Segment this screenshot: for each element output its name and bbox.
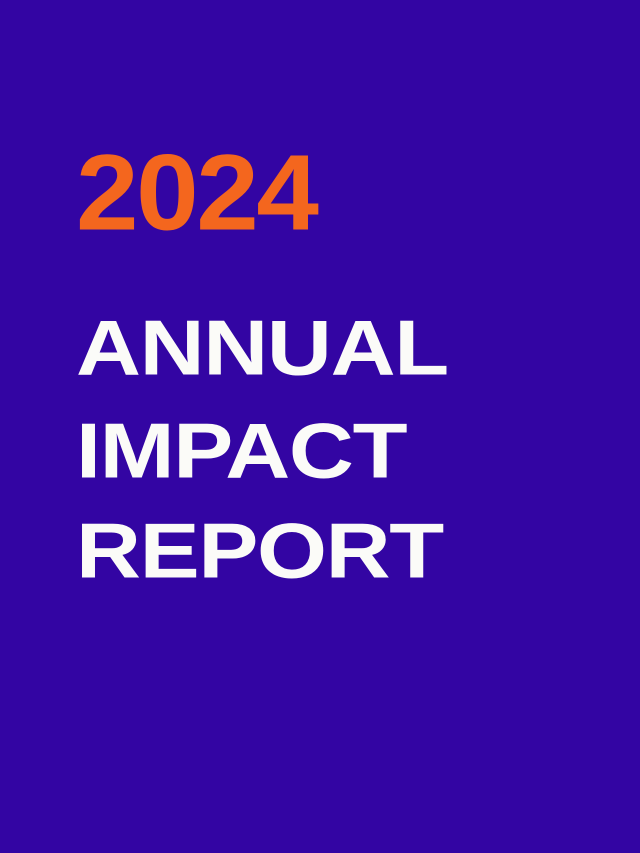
cover-title-line-2: IMPACT (76, 412, 406, 490)
cover-title-line-3: REPORT (76, 512, 443, 590)
cover-year: 2024 (76, 139, 316, 247)
report-cover: 2024 ANNUAL IMPACT REPORT (0, 0, 640, 853)
cover-title-line-1: ANNUAL (76, 309, 448, 387)
